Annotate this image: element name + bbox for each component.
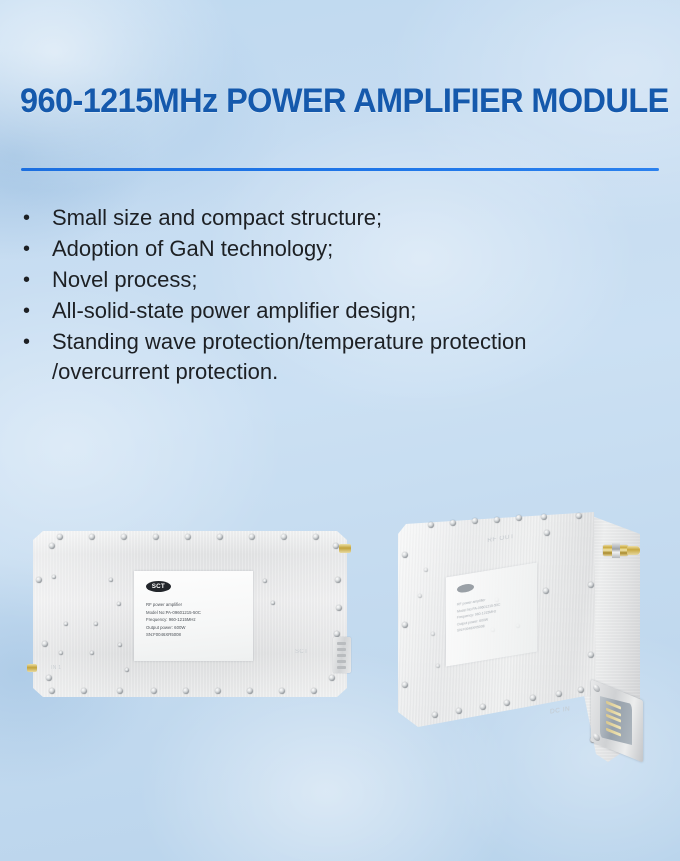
label-line: Output power: 600W (146, 624, 245, 632)
screw (588, 652, 594, 658)
screw (36, 577, 42, 583)
screw (117, 688, 123, 694)
screw (436, 664, 440, 668)
label-line: Model No:PA-09601215-50C (146, 609, 245, 617)
screw (556, 691, 562, 697)
screw (504, 700, 510, 706)
screw (117, 602, 121, 606)
sma-connector-icon (27, 664, 37, 672)
screw (311, 688, 317, 694)
screw (281, 534, 287, 540)
screw (185, 534, 191, 540)
screw (263, 579, 267, 583)
screw (402, 622, 408, 628)
screw (151, 688, 157, 694)
screw (530, 695, 536, 701)
screw (329, 675, 335, 681)
screw (402, 552, 408, 558)
screw (59, 651, 63, 655)
screw (279, 688, 285, 694)
screw (494, 517, 500, 523)
screw (109, 578, 113, 582)
sma-connector-icon (603, 543, 640, 558)
screw (90, 651, 94, 655)
screw (313, 534, 319, 540)
screw (153, 534, 159, 540)
screw (431, 632, 435, 636)
product-image-top-view: SCT IN 1 SCT RF power amplifier Model No… (33, 531, 347, 697)
screw (516, 515, 522, 521)
housing-engraving-right: SCT (295, 649, 308, 655)
product-image-perspective-view: RF OUT DC IN RF power amplifier Model No… (398, 512, 640, 762)
screw (428, 522, 434, 528)
screw (81, 688, 87, 694)
screw (271, 601, 275, 605)
screw (64, 622, 68, 626)
screw (588, 582, 594, 588)
product-slide: 960-1215MHz POWER AMPLIFIER MODULE • Sma… (0, 0, 680, 861)
screw (217, 534, 223, 540)
screw (578, 687, 584, 693)
housing-engraving-dc-in: DC IN (550, 705, 570, 715)
housing-engraving-left: IN 1 (51, 665, 61, 671)
screw (46, 675, 52, 681)
brand-logo-icon (457, 583, 474, 594)
screw (541, 514, 547, 520)
screw (450, 520, 456, 526)
screw (247, 688, 253, 694)
screw (456, 708, 462, 714)
brand-logo-text: SCT (152, 583, 165, 589)
screw (52, 575, 56, 579)
label-line: Frequency: 960-1215MHz (146, 616, 245, 624)
screw (121, 534, 127, 540)
screw (183, 688, 189, 694)
screw (42, 641, 48, 647)
sma-connector-icon (339, 544, 351, 553)
screw (94, 622, 98, 626)
screw (215, 688, 221, 694)
screw (89, 534, 95, 540)
screw (49, 688, 55, 694)
screw (543, 588, 549, 594)
screw (335, 577, 341, 583)
screw (49, 543, 55, 549)
screw (118, 643, 122, 647)
label-spec-lines: RF power amplifier Model No:PA-09601215-… (146, 601, 245, 639)
screw (402, 682, 408, 688)
screw (249, 534, 255, 540)
screw (576, 513, 582, 519)
screw (125, 668, 129, 672)
brand-logo-icon: SCT (146, 581, 171, 592)
screw (424, 568, 428, 572)
screw (432, 712, 438, 718)
screw (472, 518, 478, 524)
screw (418, 594, 422, 598)
product-label: RF power amplifier Model No:PA-09601215-… (446, 563, 537, 667)
screw (336, 605, 342, 611)
label-spec-lines: RF power amplifier Model No:PA-09601215-… (457, 590, 529, 635)
screw (480, 704, 486, 710)
label-line: SN:F0046XR5008 (146, 631, 245, 639)
screw (57, 534, 63, 540)
dsub-connector-icon (333, 637, 351, 673)
screw (544, 530, 550, 536)
label-line: RF power amplifier (146, 601, 245, 609)
product-label: SCT RF power amplifier Model No:PA-09601… (134, 571, 253, 661)
product-images: SCT IN 1 SCT RF power amplifier Model No… (0, 0, 680, 861)
